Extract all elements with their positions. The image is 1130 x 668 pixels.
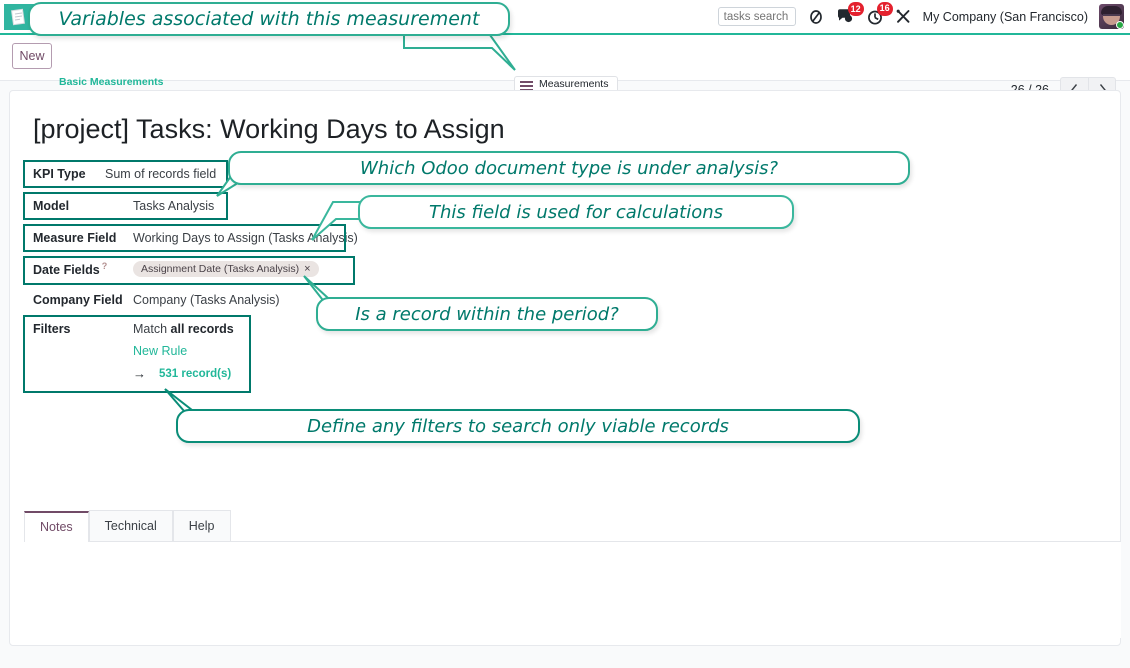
messages-badge: 12 [848,2,864,16]
avatar[interactable] [1099,4,1124,29]
callout-text-2: Which Odoo document type is under analys… [360,158,778,179]
tools-icon[interactable] [895,8,912,25]
filters-match-line: Match all records [133,322,234,336]
label-measure-field: Measure Field [33,231,133,245]
callout-bubble-2: Which Odoo document type is under analys… [228,151,910,185]
value-model[interactable]: Tasks Analysis [133,199,214,213]
new-rule-link[interactable]: New Rule [133,344,234,358]
value-kpi-type[interactable]: Sum of records field [105,167,216,181]
field-row-model: Model Tasks Analysis [33,199,214,213]
help-marker[interactable]: ? [102,261,108,271]
systray-right-group: 12 16 My Company (San Francisco) [718,0,1124,33]
field-row-filters: Filters Match all records New Rule → 531… [33,322,234,381]
label-model: Model [33,199,133,213]
notebook-tabs: Notes Technical Help [24,510,1121,542]
callout-text-1: Variables associated with this measureme… [59,8,480,30]
activity-refresh-icon[interactable] [807,8,825,26]
callout-bubble-5: Define any filters to search only viable… [176,409,860,443]
search-input[interactable] [718,7,796,26]
messages-icon[interactable]: 12 [836,8,855,25]
breadcrumb-parent[interactable]: Basic Measurements [59,76,318,89]
tab-help[interactable]: Help [173,510,231,541]
label-filters: Filters [33,322,133,336]
record-count-link[interactable]: 531 record(s) [159,368,231,380]
tag-remove-icon[interactable]: × [304,263,310,275]
filters-match-scope[interactable]: all records [171,322,234,336]
notebook: Notes Technical Help [24,510,1121,638]
stat-button-label: Measurements [539,79,608,90]
control-panel: New Basic Measurements [project] Tasks: … [0,33,1130,81]
activities-badge: 16 [877,2,893,16]
value-company-field[interactable]: Company (Tasks Analysis) [133,293,280,307]
tab-notes[interactable]: Notes [24,511,89,542]
company-name[interactable]: My Company (San Francisco) [923,10,1088,24]
label-date-fields: Date Fields? [33,261,133,277]
field-row-kpi-type: KPI Type Sum of records field [33,167,216,181]
tab-technical[interactable]: Technical [89,510,173,541]
arrow-icon: → [133,366,146,381]
callout-bubble-4: Is a record within the period? [316,297,658,331]
label-company-field: Company Field [33,293,133,307]
callout-bubble-3: This field is used for calculations [358,195,794,229]
field-row-date-fields: Date Fields? Assignment Date (Tasks Anal… [33,261,319,277]
page-title: [project] Tasks: Working Days to Assign [33,114,505,145]
activities-clock-icon[interactable]: 16 [866,8,884,26]
field-row-measure-field: Measure Field Working Days to Assign (Ta… [33,231,358,245]
label-kpi-type: KPI Type [33,167,105,181]
value-measure-field[interactable]: Working Days to Assign (Tasks Analysis) [133,231,358,245]
tag-label: Assignment Date (Tasks Analysis) [141,263,299,275]
label-date-fields-text: Date Fields [33,263,100,277]
field-row-company-field: Company Field Company (Tasks Analysis) [33,293,280,307]
online-status-dot [1116,21,1124,29]
tag-assignment-date[interactable]: Assignment Date (Tasks Analysis) × [133,261,319,277]
callout-bubble-1: Variables associated with this measureme… [28,2,510,36]
callout-text-5: Define any filters to search only viable… [307,416,729,437]
new-button[interactable]: New [12,43,52,69]
notebook-pane-notes[interactable] [24,542,1121,638]
filters-match-prefix: Match [133,322,171,336]
callout-text-3: This field is used for calculations [429,202,723,223]
callout-text-4: Is a record within the period? [355,304,619,325]
